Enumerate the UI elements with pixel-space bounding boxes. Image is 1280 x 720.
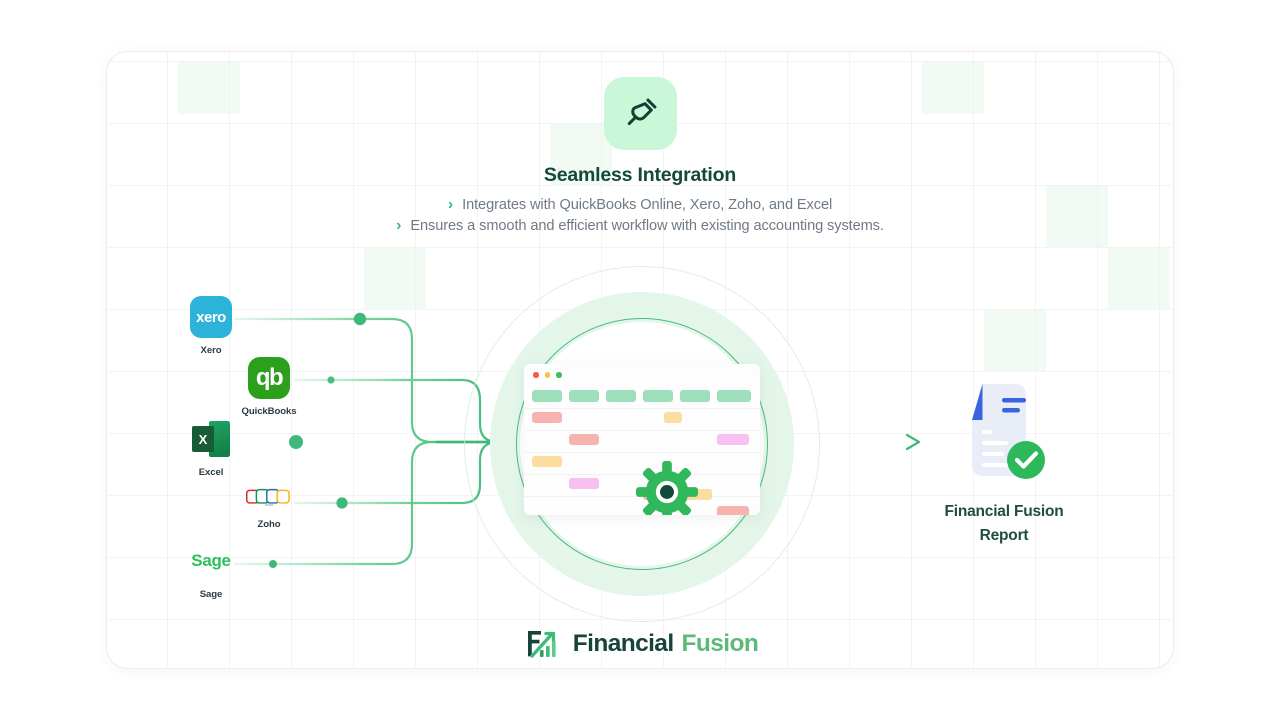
chevron-right-icon: ›	[396, 218, 401, 234]
gear-icon	[636, 461, 698, 515]
report-title-line2: Report	[904, 524, 1104, 548]
excel-logo-icon: X	[190, 418, 232, 460]
sheet-cell	[717, 434, 749, 445]
report-output[interactable]: Financial Fusion Report	[904, 378, 1104, 548]
sheet-header-cell	[680, 390, 710, 402]
source-excel[interactable]: X Excel	[165, 418, 257, 478]
connector-node	[289, 435, 303, 449]
sheet-cell	[569, 478, 599, 489]
sheet-cell	[664, 412, 682, 423]
quickbooks-logo-text: qb	[256, 364, 282, 392]
brand-name-primary: Financial	[573, 630, 674, 657]
source-label: Sage	[165, 589, 257, 600]
sheet-cell	[532, 456, 562, 467]
brand-logo: FinancialFusion	[0, 624, 1280, 664]
bullet-item: › Integrates with QuickBooks Online, Xer…	[0, 197, 1280, 213]
quickbooks-logo-icon: qb	[248, 357, 290, 399]
source-label: QuickBooks	[223, 406, 315, 417]
source-quickbooks[interactable]: qb QuickBooks	[223, 357, 315, 417]
source-zoho[interactable]: ZOHO Zoho	[223, 482, 315, 530]
window-dot-maximize	[556, 372, 562, 378]
source-label: Excel	[165, 467, 257, 478]
sheet-header-cell	[606, 390, 636, 402]
report-title-line1: Financial Fusion	[904, 500, 1104, 524]
integration-hub	[464, 266, 820, 622]
xero-logo-icon: xero	[190, 296, 232, 338]
plug-icon-badge	[604, 77, 677, 150]
source-xero[interactable]: xero Xero	[165, 296, 257, 356]
page-title: Seamless Integration	[0, 164, 1280, 187]
plug-icon	[622, 95, 660, 133]
report-title: Financial Fusion Report	[904, 500, 1104, 548]
sheet-cell	[532, 412, 562, 423]
canvas: Seamless Integration › Integrates with Q…	[0, 0, 1280, 720]
window-traffic-lights	[533, 372, 562, 378]
sheet-cell	[717, 506, 749, 515]
source-sage[interactable]: Sage Sage	[165, 540, 257, 600]
chevron-right-icon: ›	[448, 197, 453, 213]
source-label: Zoho	[223, 519, 315, 530]
window-dot-minimize	[545, 372, 551, 378]
sheet-header-cell	[569, 390, 599, 402]
svg-text:ZOHO: ZOHO	[265, 503, 274, 507]
source-label: Xero	[165, 345, 257, 356]
sheet-header-cell	[643, 390, 673, 402]
connector-node	[269, 560, 277, 568]
sheet-header-cell	[532, 390, 562, 402]
xero-logo-text: xero	[196, 309, 226, 326]
zoho-logo-icon: ZOHO	[246, 482, 292, 512]
zoho-mark: ZOHO	[246, 486, 292, 508]
document-check-icon	[956, 378, 1052, 486]
bullet-item: › Ensures a smooth and efficient workflo…	[0, 218, 1280, 234]
financial-fusion-logo-icon	[522, 624, 562, 664]
brand-name-secondary: Fusion	[682, 630, 759, 657]
sage-logo-text: Sage	[191, 551, 230, 571]
excel-x-text: X	[192, 426, 214, 452]
sheet-cell	[569, 434, 599, 445]
window-dot-close	[533, 372, 539, 378]
connector-node	[336, 497, 347, 508]
bullet-text: Integrates with QuickBooks Online, Xero,…	[462, 197, 832, 213]
connector-node	[354, 313, 366, 325]
connector-node	[327, 376, 334, 383]
bullet-text: Ensures a smooth and efficient workflow …	[410, 218, 883, 234]
sheet-header-cell	[717, 390, 751, 402]
spreadsheet-window	[524, 364, 760, 515]
sage-logo-icon: Sage	[190, 540, 232, 582]
